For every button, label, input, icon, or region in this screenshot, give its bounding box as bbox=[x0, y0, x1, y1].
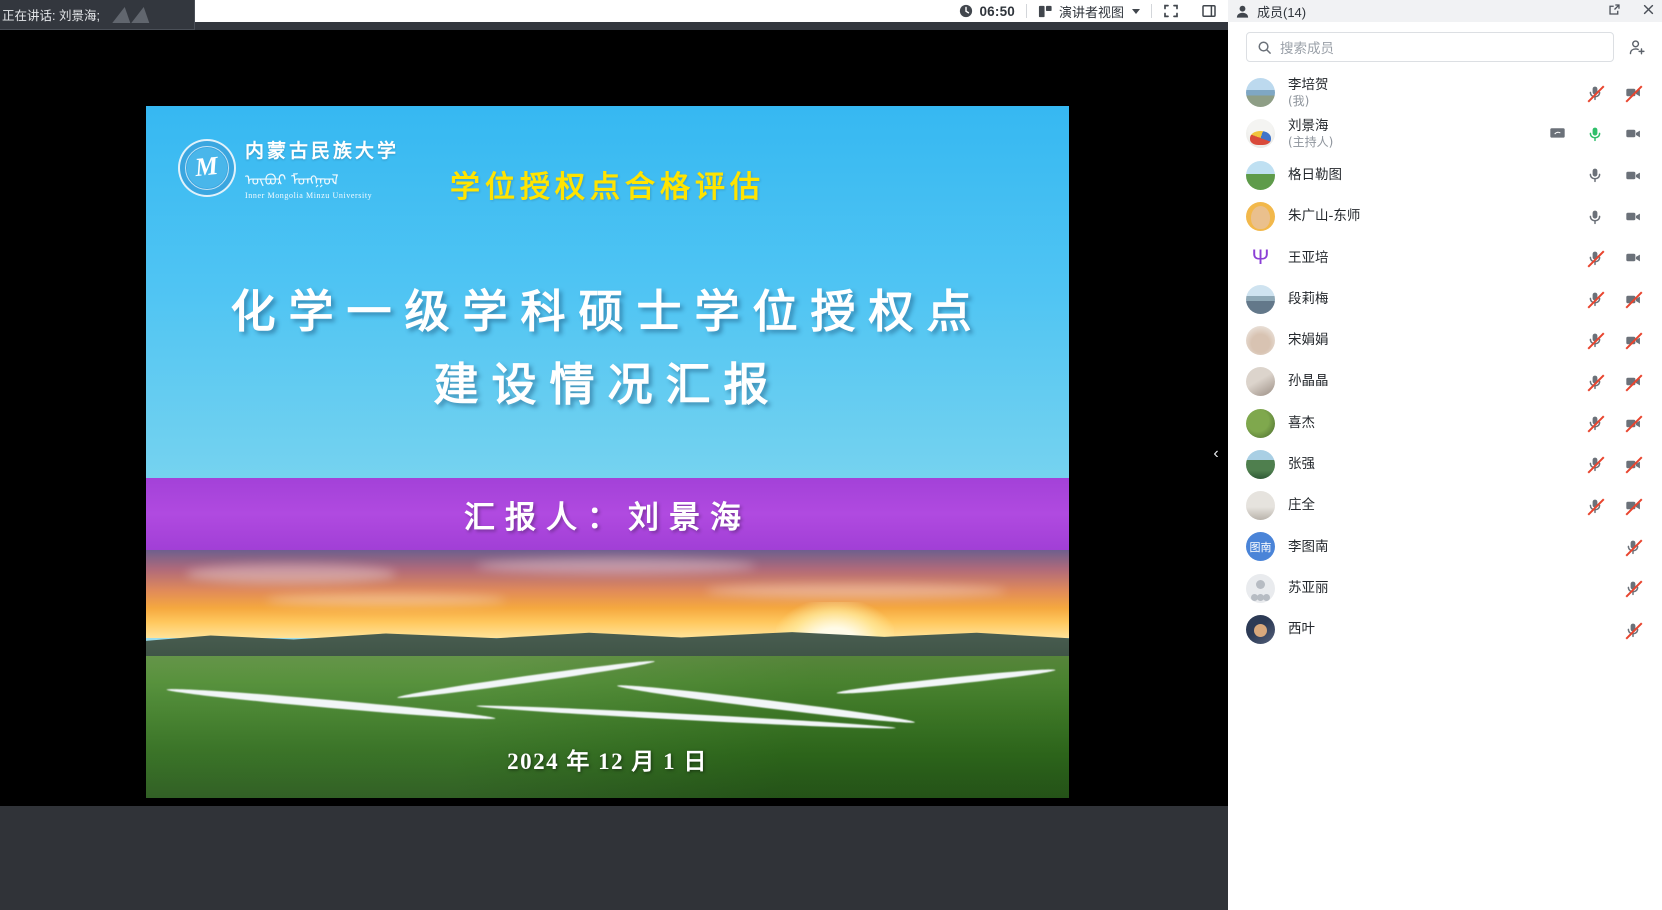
member-name: 朱广山-东师 bbox=[1288, 208, 1586, 224]
avatar: 图南 bbox=[1246, 532, 1275, 561]
microphone-muted-icon[interactable] bbox=[1586, 373, 1604, 391]
member-status-icons bbox=[1586, 414, 1642, 432]
avatar bbox=[1246, 326, 1275, 355]
member-name: 张强 bbox=[1288, 456, 1586, 472]
avatar bbox=[1246, 367, 1275, 396]
avatar bbox=[1246, 450, 1275, 479]
member-name-block: 宋娟娟 bbox=[1288, 332, 1586, 348]
presenter-band: 汇报人：刘景海 bbox=[146, 478, 1069, 550]
chevron-down-icon bbox=[1132, 9, 1140, 14]
view-mode-label: 演讲者视图 bbox=[1059, 2, 1124, 21]
stage-background-bottom bbox=[0, 806, 1228, 910]
pop-out-icon[interactable] bbox=[1601, 3, 1628, 19]
photo-cloud bbox=[476, 558, 756, 574]
photo-grassland bbox=[146, 656, 1069, 798]
member-name: 李培贺 bbox=[1288, 77, 1586, 93]
microphone-icon[interactable] bbox=[1586, 125, 1604, 143]
member-row[interactable]: 西叶 bbox=[1228, 609, 1662, 650]
camera-off-icon[interactable] bbox=[1624, 414, 1642, 432]
members-panel-header: 成员(14) bbox=[1228, 0, 1662, 22]
member-name: 王亚培 bbox=[1288, 250, 1586, 266]
meeting-window: 正在讲话: 刘景海; 06:50 演讲者视图 bbox=[0, 0, 1662, 910]
member-role: (我) bbox=[1288, 94, 1586, 109]
member-status-icons bbox=[1586, 331, 1642, 349]
avatar bbox=[1246, 78, 1275, 107]
avatar bbox=[1246, 119, 1275, 148]
member-row[interactable]: 朱广山-东师 bbox=[1228, 196, 1662, 237]
avatar bbox=[1246, 161, 1275, 190]
fullscreen-button[interactable] bbox=[1152, 0, 1190, 22]
member-row[interactable]: 刘景海(主持人) bbox=[1228, 113, 1662, 154]
member-name: 庄全 bbox=[1288, 497, 1586, 513]
microphone-muted-icon[interactable] bbox=[1586, 414, 1604, 432]
camera-icon[interactable] bbox=[1624, 166, 1642, 184]
meeting-toolbar: 06:50 演讲者视图 bbox=[195, 0, 1228, 22]
member-name-block: 西叶 bbox=[1288, 621, 1624, 637]
microphone-icon[interactable] bbox=[1586, 208, 1604, 226]
member-status-icons bbox=[1586, 208, 1642, 226]
members-panel: 搜索成员 李培贺(我)刘景海(主持人)格日勒图朱广山-东师王亚培段莉梅宋娟娟孙晶… bbox=[1228, 22, 1662, 910]
meeting-timer: 06:50 bbox=[948, 0, 1026, 22]
speaking-label: 正在讲话: 刘景海; bbox=[2, 5, 100, 24]
timer-value: 06:50 bbox=[979, 4, 1015, 19]
close-icon[interactable] bbox=[1635, 3, 1662, 19]
member-name-block: 苏亚丽 bbox=[1288, 580, 1624, 596]
avatar bbox=[1246, 243, 1275, 272]
screen-share-icon bbox=[1548, 125, 1566, 143]
member-name: 西叶 bbox=[1288, 621, 1624, 637]
avatar bbox=[1246, 491, 1275, 520]
member-row[interactable]: 喜杰 bbox=[1228, 402, 1662, 443]
add-person-icon[interactable] bbox=[1624, 34, 1650, 60]
member-status-icons bbox=[1548, 125, 1642, 143]
split-view-button[interactable] bbox=[1190, 0, 1228, 22]
member-name: 苏亚丽 bbox=[1288, 580, 1624, 596]
speaking-indicator: 正在讲话: 刘景海; bbox=[0, 0, 195, 30]
slide-upper-section: M 内蒙古民族大学 ᠥᠪᠥᠷ ᠮᠣᠩᠭᠣᠯ Inner Mongolia Min… bbox=[146, 106, 1069, 477]
microphone-muted-icon[interactable] bbox=[1586, 455, 1604, 473]
member-row[interactable]: 孙晶晶 bbox=[1228, 361, 1662, 402]
member-name-block: 朱广山-东师 bbox=[1288, 208, 1586, 224]
stage-background-top bbox=[0, 30, 1228, 80]
member-name: 宋娟娟 bbox=[1288, 332, 1586, 348]
audio-wave-icon bbox=[114, 7, 151, 23]
member-name-block: 格日勒图 bbox=[1288, 167, 1586, 183]
camera-off-icon[interactable] bbox=[1624, 497, 1642, 515]
avatar bbox=[1246, 615, 1275, 644]
slide-date: 2024 年 12 月 1 日 bbox=[146, 742, 1069, 776]
grassland-photo: 2024 年 12 月 1 日 bbox=[146, 550, 1069, 798]
member-name-block: 段莉梅 bbox=[1288, 291, 1586, 307]
member-row[interactable]: 图南李图南 bbox=[1228, 526, 1662, 567]
search-placeholder: 搜索成员 bbox=[1280, 37, 1334, 57]
collapse-panel-chevron-left-icon[interactable]: ‹ bbox=[1209, 437, 1223, 471]
member-role: (主持人) bbox=[1288, 135, 1548, 150]
avatar bbox=[1246, 202, 1275, 231]
member-row[interactable]: 段莉梅 bbox=[1228, 278, 1662, 319]
microphone-muted-icon[interactable] bbox=[1586, 249, 1604, 267]
member-row[interactable]: 李培贺(我) bbox=[1228, 72, 1662, 113]
member-row[interactable]: 苏亚丽 bbox=[1228, 568, 1662, 609]
member-status-icons bbox=[1586, 373, 1642, 391]
microphone-muted-icon[interactable] bbox=[1586, 84, 1604, 102]
camera-off-icon[interactable] bbox=[1624, 373, 1642, 391]
camera-off-icon[interactable] bbox=[1624, 331, 1642, 349]
member-row[interactable]: 格日勒图 bbox=[1228, 155, 1662, 196]
member-row[interactable]: 庄全 bbox=[1228, 485, 1662, 526]
microphone-icon[interactable] bbox=[1586, 166, 1604, 184]
member-name-block: 喜杰 bbox=[1288, 415, 1586, 431]
microphone-muted-icon[interactable] bbox=[1624, 538, 1642, 556]
member-name: 刘景海 bbox=[1288, 118, 1548, 134]
search-input[interactable]: 搜索成员 bbox=[1246, 32, 1614, 62]
search-icon bbox=[1257, 40, 1272, 55]
member-name-block: 庄全 bbox=[1288, 497, 1586, 513]
member-name: 格日勒图 bbox=[1288, 167, 1586, 183]
member-status-icons bbox=[1586, 290, 1642, 308]
slide-title-line2: 建设情况汇报 bbox=[146, 349, 1069, 422]
split-view-icon bbox=[1201, 3, 1217, 19]
avatar bbox=[1246, 285, 1275, 314]
member-name-block: 刘景海(主持人) bbox=[1288, 118, 1548, 149]
photo-cloud bbox=[266, 594, 506, 606]
member-row[interactable]: 宋娟娟 bbox=[1228, 320, 1662, 361]
presenter-view-icon bbox=[1038, 4, 1053, 19]
member-status-icons bbox=[1624, 621, 1642, 639]
slide-subtitle: 学位授权点合格评估 bbox=[146, 162, 1069, 206]
member-name: 李图南 bbox=[1288, 539, 1624, 555]
member-status-icons bbox=[1624, 579, 1642, 597]
member-status-icons bbox=[1624, 538, 1642, 556]
microphone-muted-icon[interactable] bbox=[1586, 331, 1604, 349]
member-name: 段莉梅 bbox=[1288, 291, 1586, 307]
member-status-icons bbox=[1586, 455, 1642, 473]
camera-icon[interactable] bbox=[1624, 249, 1642, 267]
member-status-icons bbox=[1586, 497, 1642, 515]
fullscreen-icon bbox=[1163, 3, 1179, 19]
members-list[interactable]: 李培贺(我)刘景海(主持人)格日勒图朱广山-东师王亚培段莉梅宋娟娟孙晶晶喜杰张强… bbox=[1228, 70, 1662, 910]
member-name: 孙晶晶 bbox=[1288, 373, 1586, 389]
avatar bbox=[1246, 574, 1275, 603]
camera-icon[interactable] bbox=[1624, 208, 1642, 226]
camera-off-icon[interactable] bbox=[1624, 290, 1642, 308]
microphone-muted-icon[interactable] bbox=[1586, 290, 1604, 308]
avatar bbox=[1246, 409, 1275, 438]
member-name-block: 孙晶晶 bbox=[1288, 373, 1586, 389]
camera-off-icon[interactable] bbox=[1624, 84, 1642, 102]
member-name-block: 张强 bbox=[1288, 456, 1586, 472]
photo-cloud bbox=[186, 564, 396, 584]
members-search-row: 搜索成员 bbox=[1228, 22, 1662, 70]
slide-title-line1: 化学一级学科硕士学位授权点 bbox=[146, 276, 1069, 349]
avatar-initials: 图南 bbox=[1250, 539, 1272, 555]
people-icon bbox=[1235, 4, 1250, 19]
member-name-block: 李培贺(我) bbox=[1288, 77, 1586, 108]
view-mode-selector[interactable]: 演讲者视图 bbox=[1027, 0, 1151, 22]
member-name: 喜杰 bbox=[1288, 415, 1586, 431]
microphone-muted-icon[interactable] bbox=[1624, 579, 1642, 597]
camera-off-icon[interactable] bbox=[1624, 455, 1642, 473]
member-status-icons bbox=[1586, 166, 1642, 184]
slide-title: 化学一级学科硕士学位授权点 建设情况汇报 bbox=[146, 276, 1069, 422]
microphone-muted-icon[interactable] bbox=[1586, 497, 1604, 515]
camera-icon[interactable] bbox=[1624, 125, 1642, 143]
member-name-block: 李图南 bbox=[1288, 539, 1624, 555]
member-row[interactable]: 张强 bbox=[1228, 444, 1662, 485]
presenter-label: 汇报人：刘景海 bbox=[464, 492, 751, 537]
clock-icon bbox=[959, 4, 973, 18]
member-name-block: 王亚培 bbox=[1288, 250, 1586, 266]
members-panel-title: 成员(14) bbox=[1257, 2, 1306, 21]
member-status-icons bbox=[1586, 249, 1642, 267]
member-status-icons bbox=[1586, 84, 1642, 102]
shared-slide: M 内蒙古民族大学 ᠥᠪᠥᠷ ᠮᠣᠩᠭᠣᠯ Inner Mongolia Min… bbox=[146, 106, 1069, 798]
photo-cloud bbox=[706, 584, 1006, 598]
university-name-cn: 内蒙古民族大学 bbox=[245, 136, 399, 163]
microphone-muted-icon[interactable] bbox=[1624, 621, 1642, 639]
member-row[interactable]: 王亚培 bbox=[1228, 237, 1662, 278]
